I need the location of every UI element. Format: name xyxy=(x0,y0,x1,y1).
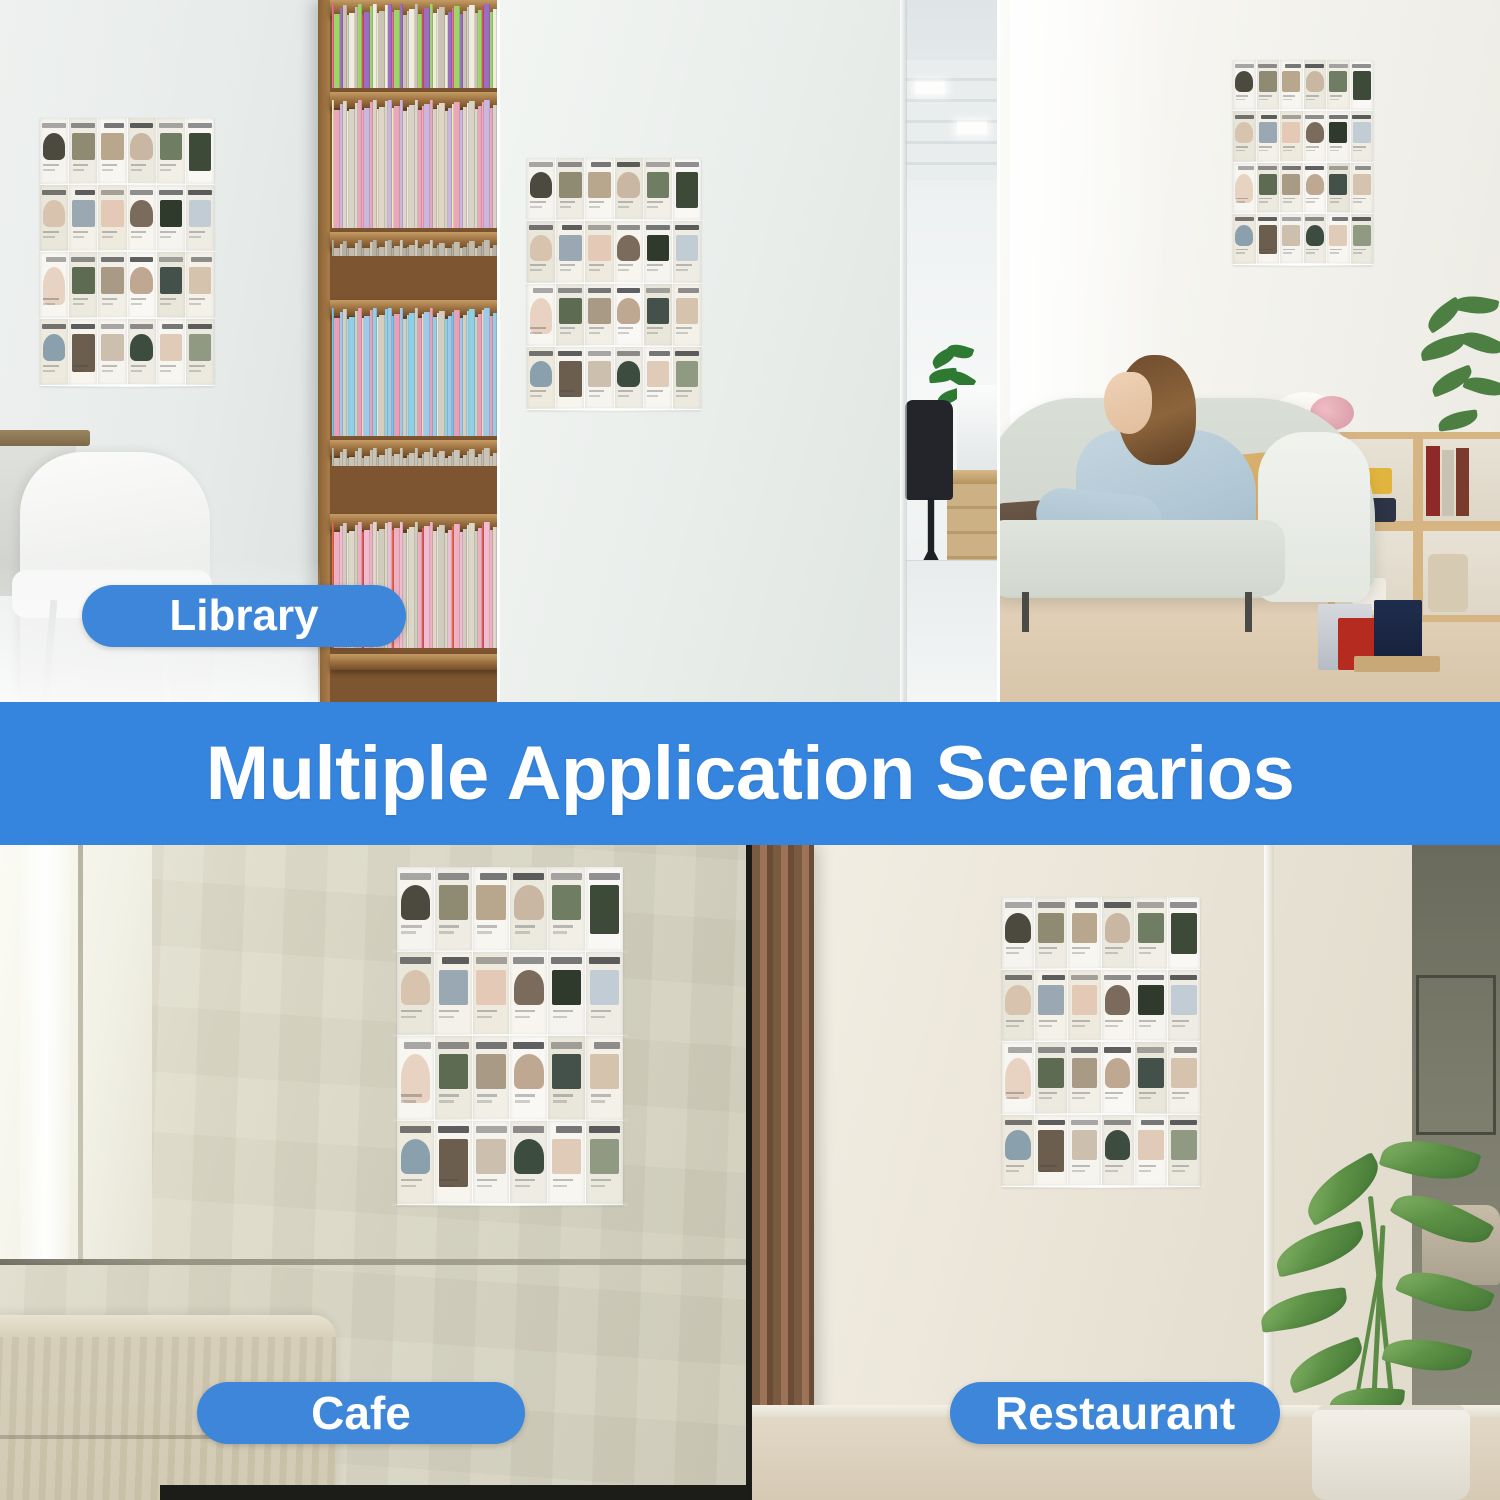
brochure-text-line xyxy=(1039,1097,1052,1099)
brochure-text-line xyxy=(160,303,171,305)
brochure-pocket[interactable] xyxy=(1035,897,1068,969)
brochure-headline xyxy=(71,324,95,329)
brochure-headline xyxy=(675,162,699,167)
brochure-pocket[interactable] xyxy=(435,952,473,1036)
brochure-pocket[interactable] xyxy=(556,284,585,346)
brochure-text-line xyxy=(1105,1097,1118,1099)
brochure-text-line xyxy=(515,925,535,928)
scene-panel-office[interactable]: Office xyxy=(500,0,997,702)
brochure-headline xyxy=(162,324,182,329)
brochure-image xyxy=(160,200,183,228)
brochure-headline xyxy=(551,873,582,880)
brochure-pocket[interactable] xyxy=(1327,60,1351,110)
brochure-text-line xyxy=(676,201,691,203)
brochure-pocket[interactable] xyxy=(1233,60,1257,110)
brochure-text-line xyxy=(1330,249,1342,251)
brochure-pocket[interactable] xyxy=(157,185,186,251)
brochure-image xyxy=(160,133,183,161)
brochure-text-line xyxy=(43,303,54,305)
brochure-image xyxy=(647,298,670,324)
brochure-pocket[interactable] xyxy=(586,1036,623,1120)
brochure-pocket[interactable] xyxy=(556,221,585,283)
brochure-headline xyxy=(101,257,125,262)
brochure-pocket[interactable] xyxy=(1168,897,1200,969)
brochure-pocket[interactable] xyxy=(397,1121,435,1205)
brochure-pocket[interactable] xyxy=(1327,214,1351,264)
brochure-text-line xyxy=(618,390,633,392)
brochure-pocket[interactable] xyxy=(1002,1115,1035,1187)
brochure-pocket[interactable] xyxy=(1068,1115,1101,1187)
brochure-pocket[interactable] xyxy=(397,952,435,1036)
brochure-pocket[interactable] xyxy=(1304,111,1328,161)
brochure-headline xyxy=(42,324,66,329)
brochure-text-line xyxy=(1006,947,1024,949)
brochure-text-line xyxy=(530,206,541,208)
brochure-pocket[interactable] xyxy=(585,284,614,346)
brochure-text-line xyxy=(530,327,545,329)
brochure-pocket[interactable] xyxy=(1351,111,1374,161)
brochure-pocket[interactable] xyxy=(1168,1115,1200,1187)
brochure-text-line xyxy=(477,1179,497,1182)
brochure-headline xyxy=(1137,975,1164,981)
brochure-text-line xyxy=(1172,1097,1185,1099)
brochure-text-line xyxy=(676,395,687,397)
brochure-pocket[interactable] xyxy=(644,158,673,220)
brochure-pocket[interactable] xyxy=(1102,1042,1135,1114)
brochure-pocket[interactable] xyxy=(186,252,214,318)
scene-panel-cafe[interactable]: Cafe xyxy=(0,845,746,1500)
brochure-text-line xyxy=(1172,1170,1185,1172)
brochure-headline xyxy=(646,162,670,167)
brochure-image xyxy=(439,1054,468,1089)
office-floor xyxy=(905,560,997,702)
brochure-pocket[interactable] xyxy=(527,221,556,283)
brochure-image xyxy=(43,133,66,161)
brochure-text-line xyxy=(515,1100,530,1103)
scene-label-cafe[interactable]: Cafe xyxy=(197,1382,525,1444)
brochure-pocket[interactable] xyxy=(1135,970,1168,1042)
brochure-pocket[interactable] xyxy=(1233,163,1257,213)
brochure-text-line xyxy=(160,365,175,367)
scene-panel-home[interactable]: Home xyxy=(1000,0,1500,702)
brochure-text-line xyxy=(1236,95,1248,97)
brochure-pocket[interactable] xyxy=(615,347,644,409)
brochure-text-line xyxy=(553,1179,573,1182)
brochure-text-line xyxy=(1283,95,1295,97)
brochure-text-line xyxy=(401,931,416,934)
brochure-image xyxy=(1329,122,1347,143)
brochure-pocket[interactable] xyxy=(128,185,157,251)
brochure-pocket[interactable] xyxy=(1168,1042,1200,1114)
rack-shelf xyxy=(527,347,701,410)
brochure-text-line xyxy=(1259,95,1271,97)
brochure-headline xyxy=(588,288,612,293)
brochure-pocket[interactable] xyxy=(1257,214,1281,264)
brochure-headline xyxy=(513,957,544,964)
brochure-pocket[interactable] xyxy=(1351,214,1374,264)
brochure-pocket[interactable] xyxy=(1304,163,1328,213)
brochure-headline xyxy=(1352,115,1371,119)
brochure-headline xyxy=(558,351,582,356)
brochure-pocket[interactable] xyxy=(40,118,69,184)
brochure-pocket[interactable] xyxy=(69,252,98,318)
brochure-pocket[interactable] xyxy=(556,158,585,220)
brochure-text-line xyxy=(189,169,200,171)
brochure-text-line xyxy=(515,1010,535,1013)
brochure-pocket[interactable] xyxy=(1102,970,1135,1042)
brochure-image xyxy=(1306,71,1324,92)
brochure-pocket[interactable] xyxy=(98,252,127,318)
brochure-image xyxy=(530,172,553,198)
brochure-pocket[interactable] xyxy=(1135,1042,1168,1114)
brochure-image xyxy=(1329,225,1347,246)
brochure-headline xyxy=(1305,115,1324,119)
brochure-pocket[interactable] xyxy=(673,284,701,346)
brochure-image xyxy=(189,200,212,228)
brochure-headline xyxy=(1038,1120,1065,1126)
rack-shelf xyxy=(40,252,214,319)
brochure-headline xyxy=(1329,64,1348,68)
brochure-image xyxy=(130,267,153,295)
brochure-text-line xyxy=(553,1010,573,1013)
brochure-pocket[interactable] xyxy=(157,319,186,385)
scenario-collage: Library xyxy=(0,0,1500,1500)
brochure-image xyxy=(514,1139,543,1174)
brochure-headline xyxy=(46,257,66,262)
brochure-image xyxy=(1306,122,1324,143)
brochure-text-line xyxy=(1172,1092,1190,1094)
brochure-image xyxy=(1138,1130,1164,1160)
brochure-pocket[interactable] xyxy=(1280,214,1304,264)
brochure-pocket[interactable] xyxy=(40,252,69,318)
brochure-text-line xyxy=(1039,947,1057,949)
brochure-headline xyxy=(1285,64,1301,68)
brochure-pocket[interactable] xyxy=(40,185,69,251)
brochure-pocket[interactable] xyxy=(644,284,673,346)
brochure-image xyxy=(552,885,581,920)
brochure-text-line xyxy=(1353,95,1365,97)
brochure-headline xyxy=(188,324,212,329)
brochure-image xyxy=(590,1054,619,1089)
brochure-pocket[interactable] xyxy=(473,1036,511,1120)
brochure-pocket[interactable] xyxy=(69,118,98,184)
brochure-pocket[interactable] xyxy=(435,1121,473,1205)
brochure-image xyxy=(72,133,95,161)
brochure-pocket[interactable] xyxy=(435,867,473,951)
brochure-headline xyxy=(1104,902,1131,908)
brochure-headline xyxy=(1282,217,1301,221)
brochure-pocket[interactable] xyxy=(1304,214,1328,264)
brochure-pocket[interactable] xyxy=(1304,60,1328,110)
brochure-pocket[interactable] xyxy=(1035,1115,1068,1187)
brochure-pocket[interactable] xyxy=(1002,970,1035,1042)
brochure-text-line xyxy=(618,327,633,329)
brochure-text-line xyxy=(647,327,662,329)
brochure-image xyxy=(1105,1058,1131,1088)
scene-label-text: Restaurant xyxy=(995,1386,1235,1440)
brochure-text-line xyxy=(1330,252,1339,254)
brochure-pocket[interactable] xyxy=(1068,970,1101,1042)
brochure-pocket[interactable] xyxy=(527,284,556,346)
brochure-pocket[interactable] xyxy=(157,118,186,184)
brochure-image xyxy=(189,267,212,295)
office-ceiling-tiles xyxy=(905,60,997,180)
brochure-text-line xyxy=(160,370,171,372)
brochure-pocket[interactable] xyxy=(69,319,98,385)
brochure-text-line xyxy=(1236,252,1245,254)
brochure-pocket[interactable] xyxy=(69,185,98,251)
brochure-pocket[interactable] xyxy=(1257,60,1281,110)
brochure-text-line xyxy=(530,201,545,203)
brochure-pocket[interactable] xyxy=(1280,60,1304,110)
scene-label-restaurant[interactable]: Restaurant xyxy=(950,1382,1280,1444)
brochure-pocket[interactable] xyxy=(40,319,69,385)
brochure-pocket[interactable] xyxy=(1351,60,1374,110)
brochure-pocket[interactable] xyxy=(1102,897,1135,969)
brochure-image xyxy=(552,1139,581,1174)
brochure-pocket[interactable] xyxy=(128,118,157,184)
brochure-pocket[interactable] xyxy=(586,867,623,951)
brochure-pocket[interactable] xyxy=(435,1036,473,1120)
brochure-headline xyxy=(617,288,641,293)
brochure-pocket[interactable] xyxy=(473,952,511,1036)
brochure-image xyxy=(530,361,553,387)
brochure-pocket[interactable] xyxy=(1102,1115,1135,1187)
brochure-pocket[interactable] xyxy=(585,347,614,409)
brochure-pocket[interactable] xyxy=(615,284,644,346)
office-wall-edge xyxy=(900,0,907,702)
brochure-pocket[interactable] xyxy=(510,1121,548,1205)
brochure-pocket[interactable] xyxy=(98,185,127,251)
brochure-pocket[interactable] xyxy=(397,867,435,951)
brochure-pocket[interactable] xyxy=(1233,111,1257,161)
brochure-text-line xyxy=(1283,150,1292,152)
brochure-pocket[interactable] xyxy=(548,867,586,951)
brochure-headline xyxy=(188,190,212,195)
bottom-scene-row: Cafe xyxy=(0,845,1500,1500)
brochure-text-line xyxy=(477,931,492,934)
brochure-headline xyxy=(404,1042,431,1049)
scene-panel-restaurant[interactable]: Restaurant xyxy=(752,845,1500,1500)
restaurant-plant xyxy=(1242,1135,1500,1425)
brochure-image xyxy=(552,1054,581,1089)
brochure-pocket[interactable] xyxy=(510,867,548,951)
brochure-pocket[interactable] xyxy=(473,1121,511,1205)
brochure-image xyxy=(101,267,124,295)
scene-label-library[interactable]: Library xyxy=(82,585,406,647)
brochure-pocket[interactable] xyxy=(548,1036,586,1120)
brochure-image xyxy=(1259,174,1277,195)
brochure-pocket[interactable] xyxy=(585,221,614,283)
brochure-image xyxy=(676,361,699,387)
brochure-image xyxy=(1259,71,1277,92)
brochure-text-line xyxy=(401,1094,421,1097)
brochure-pocket[interactable] xyxy=(673,347,701,409)
brochure-text-line xyxy=(676,327,691,329)
brochure-text-line xyxy=(553,1016,568,1019)
brochure-text-line xyxy=(560,390,575,392)
brochure-text-line xyxy=(647,390,662,392)
brochure-pocket[interactable] xyxy=(527,347,556,409)
brochure-text-line xyxy=(1105,947,1123,949)
brochure-headline xyxy=(556,1126,583,1133)
brochure-rack-restaurant xyxy=(1002,897,1200,1187)
rack-shelf xyxy=(397,1036,623,1121)
brochure-pocket[interactable] xyxy=(548,952,586,1036)
brochure-text-line xyxy=(43,164,58,166)
brochure-pocket[interactable] xyxy=(510,952,548,1036)
home-plant xyxy=(1420,296,1500,466)
brochure-image xyxy=(476,1139,505,1174)
brochure-pocket[interactable] xyxy=(585,158,614,220)
brochure-pocket[interactable] xyxy=(98,118,127,184)
brochure-headline xyxy=(1352,64,1371,68)
brochure-text-line xyxy=(676,269,687,271)
brochure-pocket[interactable] xyxy=(1135,897,1168,969)
brochure-pocket[interactable] xyxy=(644,221,673,283)
brochure-pocket[interactable] xyxy=(586,1121,623,1205)
brochure-pocket[interactable] xyxy=(1168,970,1200,1042)
brochure-pocket[interactable] xyxy=(1233,214,1257,264)
brochure-text-line xyxy=(1236,201,1245,203)
office-ceiling-light xyxy=(915,82,945,94)
brochure-pocket[interactable] xyxy=(1035,1042,1068,1114)
brochure-text-line xyxy=(73,231,88,233)
brochure-headline xyxy=(159,123,183,128)
brochure-pocket[interactable] xyxy=(1068,1042,1101,1114)
brochure-headline xyxy=(533,288,553,293)
brochure-text-line xyxy=(1236,249,1248,251)
brochure-text-line xyxy=(131,298,146,300)
brochure-text-line xyxy=(160,164,175,166)
brochure-pocket[interactable] xyxy=(1280,111,1304,161)
brochure-pocket[interactable] xyxy=(1068,897,1101,969)
brochure-headline xyxy=(191,257,211,262)
brochure-headline xyxy=(646,225,670,230)
brochure-image xyxy=(676,298,699,324)
brochure-text-line xyxy=(160,236,171,238)
brochure-pocket[interactable] xyxy=(1280,163,1304,213)
brochure-text-line xyxy=(439,931,454,934)
brochure-image xyxy=(1282,122,1300,143)
brochure-text-line xyxy=(189,231,204,233)
brochure-headline xyxy=(529,225,553,230)
restaurant-planter-pot xyxy=(1312,1410,1470,1500)
brochure-rack-office xyxy=(527,158,701,410)
brochure-pocket[interactable] xyxy=(615,158,644,220)
brochure-pocket[interactable] xyxy=(1327,111,1351,161)
brochure-text-line xyxy=(1353,146,1365,148)
top-scene-row: Library xyxy=(0,0,1500,702)
brochure-text-line xyxy=(477,925,497,928)
brochure-pocket[interactable] xyxy=(157,252,186,318)
brochure-text-line xyxy=(1072,1165,1090,1167)
brochure-text-line xyxy=(1306,252,1315,254)
brochure-text-line xyxy=(1236,146,1248,148)
brochure-image xyxy=(647,235,670,261)
brochure-text-line xyxy=(515,931,530,934)
brochure-text-line xyxy=(1006,1165,1024,1167)
brochure-pocket[interactable] xyxy=(1257,111,1281,161)
brochure-text-line xyxy=(1172,1020,1190,1022)
brochure-image xyxy=(72,267,95,295)
brochure-headline xyxy=(594,1042,621,1049)
brochure-headline xyxy=(675,351,699,356)
brochure-text-line xyxy=(530,332,541,334)
brochure-rack-home xyxy=(1233,60,1373,265)
brochure-pocket[interactable] xyxy=(128,319,157,385)
brochure-text-line xyxy=(477,1094,497,1097)
brochure-pocket[interactable] xyxy=(98,319,127,385)
brochure-pocket[interactable] xyxy=(644,347,673,409)
brochure-pocket[interactable] xyxy=(510,1036,548,1120)
brochure-text-line xyxy=(1072,1097,1085,1099)
brochure-text-line xyxy=(553,1100,568,1103)
brochure-pocket[interactable] xyxy=(673,221,701,283)
brochure-pocket[interactable] xyxy=(527,158,556,220)
brochure-pocket[interactable] xyxy=(1002,897,1035,969)
brochure-pocket[interactable] xyxy=(1035,970,1068,1042)
brochure-text-line xyxy=(1006,1025,1019,1027)
brochure-headline xyxy=(1071,1047,1098,1053)
brochure-pocket[interactable] xyxy=(1351,163,1374,213)
brochure-pocket[interactable] xyxy=(186,319,214,385)
brochure-pocket[interactable] xyxy=(556,347,585,409)
brochure-text-line xyxy=(1306,99,1315,101)
brochure-text-line xyxy=(1330,198,1342,200)
brochure-text-line xyxy=(102,169,113,171)
brochure-image xyxy=(588,361,611,387)
brochure-pocket[interactable] xyxy=(186,185,214,251)
brochure-pocket[interactable] xyxy=(128,252,157,318)
brochure-image xyxy=(160,267,183,295)
brochure-pocket[interactable] xyxy=(673,158,701,220)
brochure-image xyxy=(101,334,124,362)
brochure-image xyxy=(1259,122,1277,143)
brochure-text-line xyxy=(1353,201,1362,203)
brochure-pocket[interactable] xyxy=(1257,163,1281,213)
brochure-pocket[interactable] xyxy=(615,221,644,283)
brochure-text-line xyxy=(439,1185,454,1188)
brochure-pocket[interactable] xyxy=(586,952,623,1036)
brochure-headline xyxy=(1170,1120,1197,1126)
brochure-pocket[interactable] xyxy=(397,1036,435,1120)
home-sofa-leg xyxy=(1245,592,1252,632)
brochure-headline xyxy=(71,123,95,128)
scene-panel-library[interactable]: Library xyxy=(0,0,497,702)
brochure-pocket[interactable] xyxy=(1327,163,1351,213)
brochure-headline xyxy=(130,123,154,128)
brochure-text-line xyxy=(439,1010,459,1013)
brochure-text-line xyxy=(560,395,571,397)
brochure-text-line xyxy=(131,236,142,238)
brochure-text-line xyxy=(160,169,171,171)
brochure-pocket[interactable] xyxy=(548,1121,586,1205)
book-row xyxy=(332,240,497,256)
brochure-image xyxy=(617,361,640,387)
brochure-headline xyxy=(1137,1047,1164,1053)
brochure-pocket[interactable] xyxy=(473,867,511,951)
office-ceiling-light xyxy=(957,122,987,134)
brochure-text-line xyxy=(439,925,459,928)
library-table-top xyxy=(0,430,90,446)
brochure-headline xyxy=(646,288,670,293)
brochure-pocket[interactable] xyxy=(1135,1115,1168,1187)
rack-shelf xyxy=(40,118,214,185)
brochure-pocket[interactable] xyxy=(1002,1042,1035,1114)
brochure-pocket[interactable] xyxy=(186,118,214,184)
book-row xyxy=(332,100,497,228)
